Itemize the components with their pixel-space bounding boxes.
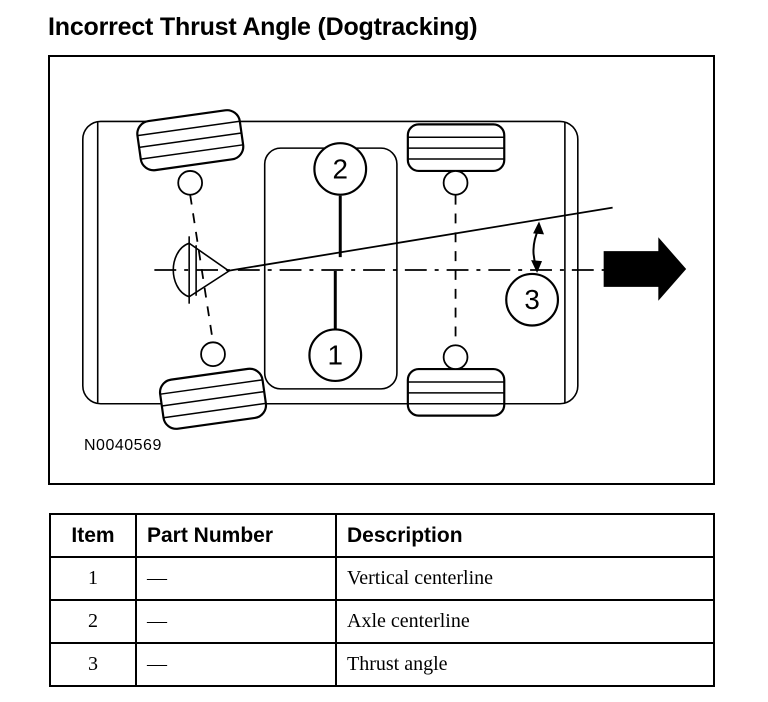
cell-item: 3 xyxy=(50,643,136,686)
rear-left-tire xyxy=(408,124,504,171)
parts-table: Item Part Number Description 1 — Vertica… xyxy=(49,513,715,687)
rear-left-hub xyxy=(444,171,468,195)
cell-part-number: — xyxy=(136,557,336,600)
cell-description: Vertical centerline xyxy=(336,557,714,600)
cell-description: Thrust angle xyxy=(336,643,714,686)
rear-right-tire xyxy=(408,369,504,416)
callout-3-label: 3 xyxy=(524,284,539,315)
table-row: 2 — Axle centerline xyxy=(50,600,714,643)
front-right-hub xyxy=(201,342,225,366)
figure-frame: 2 1 3 N0040569 xyxy=(48,55,715,485)
cell-description: Axle centerline xyxy=(336,600,714,643)
front-right-tire xyxy=(158,367,267,430)
column-header-item: Item xyxy=(50,514,136,557)
callout-1-label: 1 xyxy=(328,340,343,371)
rear-right-hub xyxy=(444,345,468,369)
thrust-line xyxy=(227,208,613,271)
column-header-part-number: Part Number xyxy=(136,514,336,557)
travel-direction-arrow-icon xyxy=(604,237,687,300)
figure-id-label: N0040569 xyxy=(84,437,162,455)
front-left-hub xyxy=(178,171,202,195)
cell-item: 2 xyxy=(50,600,136,643)
thrust-angle-diagram: 2 1 3 xyxy=(50,57,713,483)
thrust-angle-arrowhead-top xyxy=(533,221,544,234)
thrust-angle-arrowhead-bottom xyxy=(531,260,542,273)
front-left-tire xyxy=(136,109,245,172)
callout-2-label: 2 xyxy=(333,153,348,184)
page-title: Incorrect Thrust Angle (Dogtracking) xyxy=(48,12,477,42)
cell-part-number: — xyxy=(136,600,336,643)
cell-item: 1 xyxy=(50,557,136,600)
table-row: 1 — Vertical centerline xyxy=(50,557,714,600)
column-header-description: Description xyxy=(336,514,714,557)
table-row: 3 — Thrust angle xyxy=(50,643,714,686)
cell-part-number: — xyxy=(136,643,336,686)
table-header-row: Item Part Number Description xyxy=(50,514,714,557)
parts-table-container: Item Part Number Description 1 — Vertica… xyxy=(49,513,715,687)
